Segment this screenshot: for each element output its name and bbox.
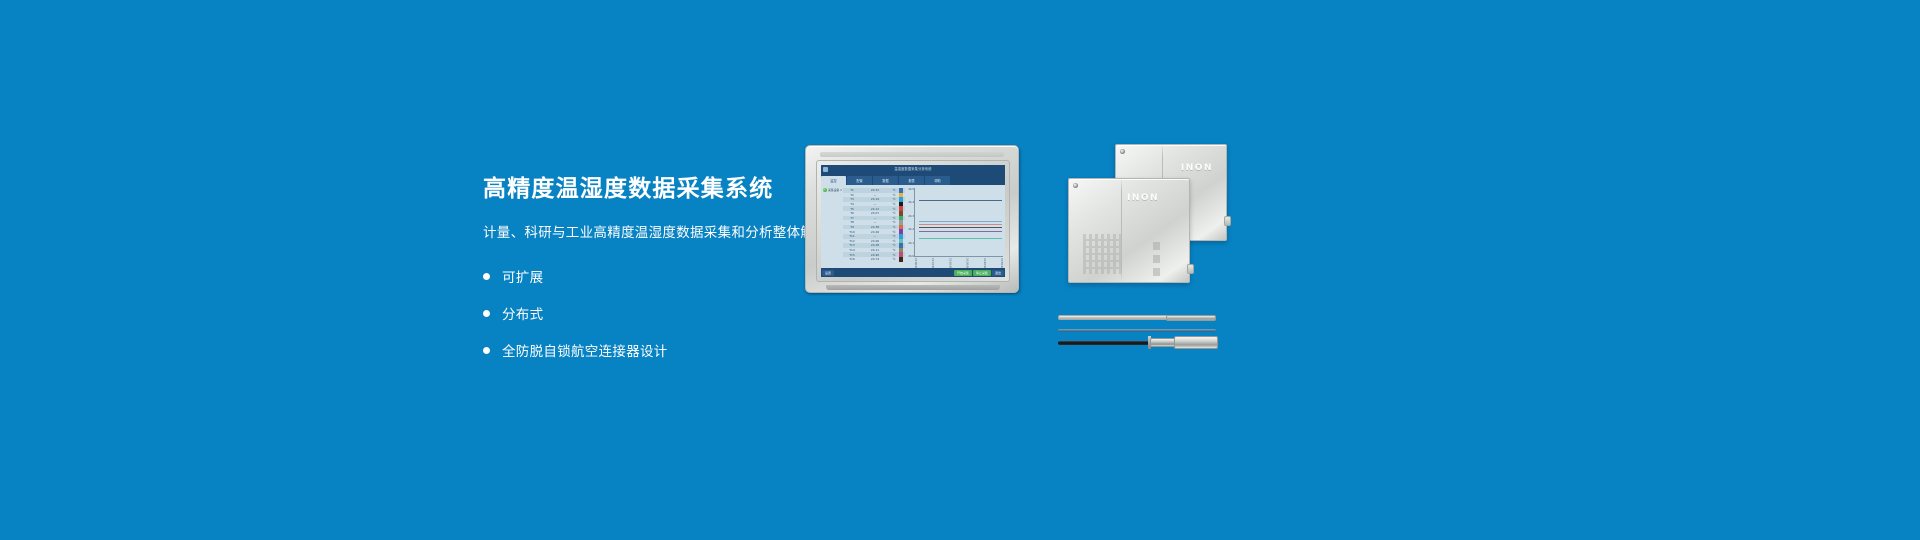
channel-value: 24.46: [861, 230, 889, 234]
channel-value: 24.11: [861, 248, 889, 252]
chart-x-axis: 10:00:0010:10:0010:20:0010:30:0010:40:00…: [914, 258, 1003, 267]
tab-config[interactable]: 配置: [847, 176, 872, 185]
channel-value: 24.19: [861, 197, 889, 201]
tab-help[interactable]: 帮助: [925, 176, 950, 185]
stop-acquisition-button[interactable]: 停止采集: [973, 270, 991, 276]
channel-value: 24.90: [861, 253, 889, 257]
channel-color-swatch: [899, 257, 903, 262]
module-brand-label: INON: [1181, 163, 1213, 173]
device-bezel: 温湿度数据采集分析系统 监控 配置 数据 报表 帮助 采集设备 1: [816, 160, 1010, 282]
table-row[interactable]: T1424.11℃: [843, 248, 905, 253]
channel-value: —: [861, 234, 889, 238]
x-tick-label: 10:00:00: [914, 258, 917, 267]
table-row[interactable]: T624.07℃: [843, 211, 905, 216]
aviation-connector-cable: [1058, 341, 1154, 345]
table-row[interactable]: T1324.28℃: [843, 243, 905, 248]
y-tick-label: 24.1: [907, 242, 914, 245]
channel-id: T7: [843, 216, 861, 220]
aviation-connector-shell: [1174, 336, 1218, 349]
chart-plot-area: [914, 188, 1003, 257]
channel-value: 24.12: [861, 207, 889, 211]
chart-series-line: [919, 224, 1003, 225]
exit-button[interactable]: 退出: [992, 270, 1004, 276]
module-brand-label: INON: [1127, 193, 1159, 203]
chart-series-line: [919, 200, 1003, 201]
table-row[interactable]: T1024.46℃: [843, 229, 905, 234]
table-row[interactable]: T11—℃: [843, 234, 905, 239]
module-screw-icon: [1120, 149, 1125, 154]
channel-value: —: [861, 202, 889, 206]
chart-series-line: [919, 227, 1003, 228]
module-port: [1187, 264, 1194, 274]
channel-unit: ℃: [889, 248, 899, 252]
channel-id: T16: [843, 257, 861, 261]
channel-unit: ℃: [889, 220, 899, 224]
software-bottom-bar: 设置 开始采集 停止采集 退出: [821, 268, 1005, 277]
table-row[interactable]: T4—℃: [843, 202, 905, 207]
panel-pc-device: 温湿度数据采集分析系统 监控 配置 数据 报表 帮助 采集设备 1: [805, 145, 1025, 295]
channel-id: T14: [843, 248, 861, 252]
tab-monitor[interactable]: 监控: [821, 176, 846, 185]
module-connector-block: [1153, 242, 1173, 276]
table-row[interactable]: T1224.96℃: [843, 239, 905, 244]
chart-y-axis: 24.524.424.324.224.124.0: [907, 188, 914, 258]
tab-report[interactable]: 报表: [899, 176, 924, 185]
table-row[interactable]: T924.38℃: [843, 225, 905, 230]
channel-table: T124.31℃T2—℃T324.19℃T4—℃T524.12℃T624.07℃…: [843, 185, 905, 268]
module-spec-label: [1083, 232, 1149, 274]
table-row[interactable]: T1624.74℃: [843, 257, 905, 262]
status-online-icon: [823, 188, 827, 192]
chart-series-line: [919, 221, 1003, 222]
y-tick-label: 24.0: [907, 255, 914, 258]
sensor-module-front: INON: [1068, 178, 1190, 283]
x-tick-label: 10:50:00: [1000, 258, 1003, 267]
channel-unit: ℃: [889, 188, 899, 192]
channel-value: 24.96: [861, 239, 889, 243]
device-vent-strip: [820, 152, 1004, 157]
table-row[interactable]: T8—℃: [843, 220, 905, 225]
window-title: 温湿度数据采集分析系统: [821, 165, 1005, 174]
module-screw-icon: [1073, 183, 1078, 188]
device-screen: 温湿度数据采集分析系统 监控 配置 数据 报表 帮助 采集设备 1: [821, 165, 1005, 277]
channel-unit: ℃: [889, 257, 899, 261]
y-tick-label: 24.4: [907, 201, 914, 204]
channel-value: 24.38: [861, 225, 889, 229]
channel-unit: ℃: [889, 216, 899, 220]
probes-group: [1058, 315, 1228, 365]
bullet-dot-icon: [483, 347, 490, 354]
channel-id: T11: [843, 234, 861, 238]
channel-unit: ℃: [889, 239, 899, 243]
x-tick-label: 10:30:00: [966, 258, 969, 267]
table-row[interactable]: T524.12℃: [843, 206, 905, 211]
channel-unit: ℃: [889, 207, 899, 211]
channel-unit: ℃: [889, 197, 899, 201]
channel-value: 24.74: [861, 257, 889, 261]
software-tab-bar: 监控 配置 数据 报表 帮助: [821, 174, 1005, 185]
channel-id: T6: [843, 211, 861, 215]
tree-node-device[interactable]: 采集设备 1: [823, 188, 842, 192]
channel-value: 24.07: [861, 211, 889, 215]
channel-unit: ℃: [889, 230, 899, 234]
channel-unit: ℃: [889, 243, 899, 247]
acquisition-button-group: 开始采集 停止采集 退出: [954, 270, 1004, 276]
channel-unit: ℃: [889, 234, 899, 238]
sensor-wire: [1058, 329, 1216, 332]
channel-id: T4: [843, 202, 861, 206]
feature-label: 全防脱自锁航空连接器设计: [502, 340, 668, 360]
channel-value: —: [861, 193, 889, 197]
channel-id: T3: [843, 197, 861, 201]
x-tick-label: 10:20:00: [948, 258, 951, 267]
bullet-dot-icon: [483, 310, 490, 317]
channel-id: T1: [843, 188, 861, 192]
settings-button[interactable]: 设置: [822, 270, 834, 276]
list-item: 全防脱自锁航空连接器设计: [483, 335, 953, 366]
table-row[interactable]: T324.19℃: [843, 197, 905, 202]
table-row[interactable]: T7—℃: [843, 216, 905, 221]
software-title-bar: 温湿度数据采集分析系统: [821, 165, 1005, 174]
table-row[interactable]: T2—℃: [843, 193, 905, 198]
channel-value: —: [861, 220, 889, 224]
tab-data[interactable]: 数据: [873, 176, 898, 185]
channel-id: T13: [843, 243, 861, 247]
chart-series-line: [919, 238, 1003, 239]
channel-id: T5: [843, 207, 861, 211]
channel-id: T8: [843, 220, 861, 224]
start-acquisition-button[interactable]: 开始采集: [954, 270, 972, 276]
y-tick-label: 24.5: [907, 188, 914, 191]
channel-unit: ℃: [889, 193, 899, 197]
channel-id: T9: [843, 225, 861, 229]
trend-chart: 24.524.424.324.224.124.0 10:00:0010:10:0…: [905, 185, 1005, 268]
feature-label: 分布式: [502, 303, 543, 323]
chart-series-line: [919, 231, 1003, 232]
y-tick-label: 24.3: [907, 215, 914, 218]
feature-label: 可扩展: [502, 266, 543, 286]
x-tick-label: 10:10:00: [931, 258, 934, 267]
stainless-probe-rod: [1058, 315, 1170, 320]
table-row[interactable]: T124.31℃: [843, 188, 905, 193]
channel-unit: ℃: [889, 202, 899, 206]
sensor-modules-group: INON INON: [1060, 140, 1230, 305]
channel-value: 24.31: [861, 188, 889, 192]
y-tick-label: 24.2: [907, 228, 914, 231]
channel-unit: ℃: [889, 225, 899, 229]
x-tick-label: 10:40:00: [983, 258, 986, 267]
channel-value: 24.28: [861, 243, 889, 247]
aviation-connector-body: [1150, 338, 1176, 347]
channel-id: T15: [843, 253, 861, 257]
device-tree-panel: 采集设备 1: [821, 185, 843, 268]
device-foot: [826, 285, 1000, 290]
channel-id: T10: [843, 230, 861, 234]
software-body: 采集设备 1 T124.31℃T2—℃T324.19℃T4—℃T524.12℃T…: [821, 185, 1005, 268]
tree-node-label: 采集设备 1: [828, 188, 842, 192]
bullet-dot-icon: [483, 273, 490, 280]
channel-id: T2: [843, 193, 861, 197]
probe-tip: [1166, 315, 1216, 321]
channel-id: T12: [843, 239, 861, 243]
channel-unit: ℃: [889, 253, 899, 257]
channel-unit: ℃: [889, 211, 899, 215]
channel-value: —: [861, 216, 889, 220]
list-item: 分布式: [483, 298, 953, 329]
table-row[interactable]: T1524.90℃: [843, 252, 905, 257]
device-case: 温湿度数据采集分析系统 监控 配置 数据 报表 帮助 采集设备 1: [805, 145, 1019, 293]
module-port: [1224, 216, 1231, 226]
